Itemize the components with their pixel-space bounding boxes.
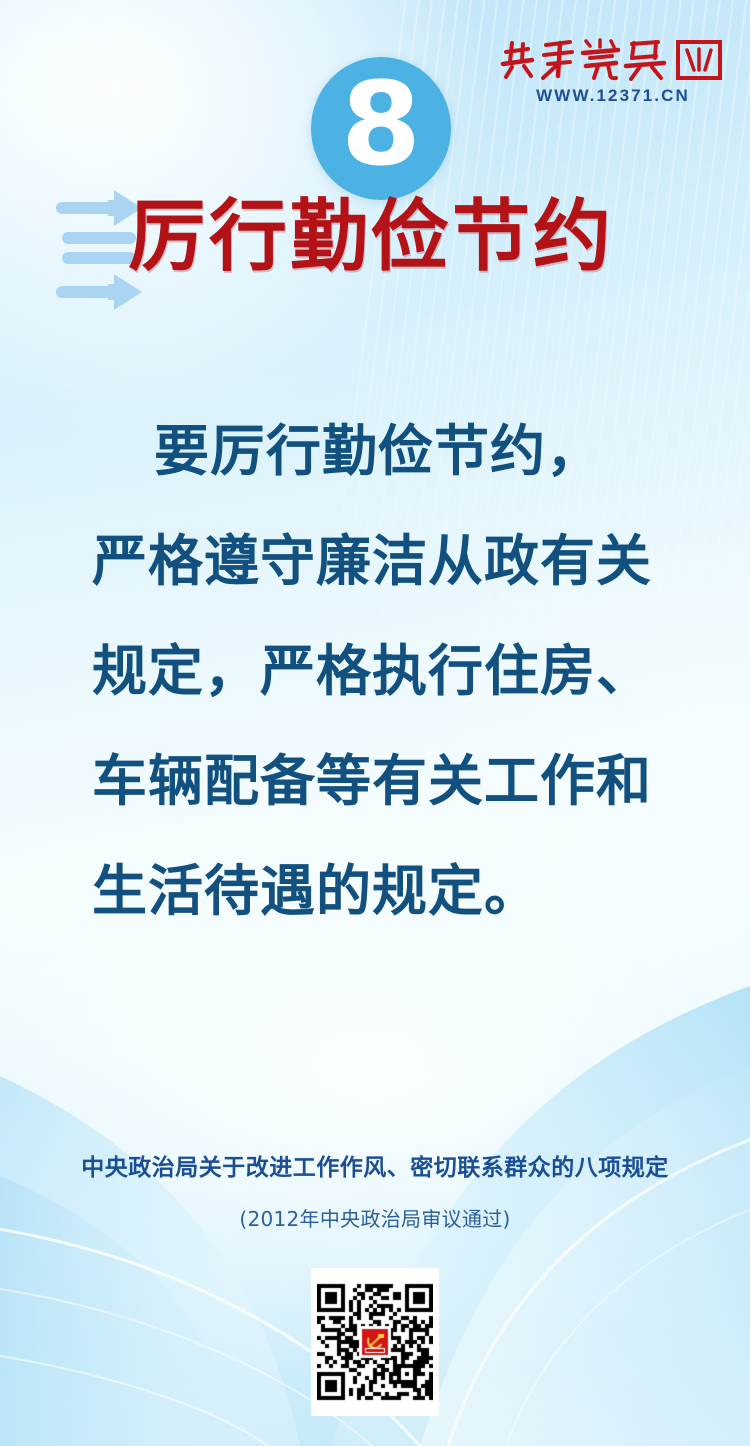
brand-url[interactable]: WWW.12371.CN bbox=[498, 86, 728, 106]
qr-code-icon bbox=[317, 1274, 433, 1410]
body-line: 车辆配备等有关工作和 bbox=[0, 726, 750, 836]
brand-wordmark-icon bbox=[498, 36, 728, 84]
page-title: 厉行勤俭节约 bbox=[128, 198, 614, 276]
footer-title: 中央政治局关于改进工作作风、密切联系群众的八项规定 bbox=[0, 1148, 750, 1182]
number-badge-value: 8 bbox=[311, 57, 451, 200]
qr-code[interactable] bbox=[311, 1268, 439, 1416]
body-line: 要厉行勤俭节约， bbox=[0, 396, 750, 506]
body-copy: 要厉行勤俭节约， 严格遵守廉洁从政有关 规定，严格执行住房、 车辆配备等有关工作… bbox=[0, 396, 750, 946]
brand-logo[interactable]: WWW.12371.CN bbox=[498, 36, 728, 106]
footer-subtitle: (2012年中央政治局审议通过) bbox=[0, 1203, 750, 1232]
body-line: 规定，严格执行住房、 bbox=[0, 616, 750, 726]
poster-canvas: WWW.12371.CN 8 厉行勤俭节约 要厉行勤俭节约， 严格遵守廉洁从政有… bbox=[0, 0, 750, 1446]
body-line: 严格遵守廉洁从政有关 bbox=[0, 506, 750, 616]
brand-box-glyph bbox=[678, 42, 720, 78]
number-badge: 8 bbox=[311, 57, 451, 200]
body-line: 生活待遇的规定。 bbox=[0, 836, 750, 946]
